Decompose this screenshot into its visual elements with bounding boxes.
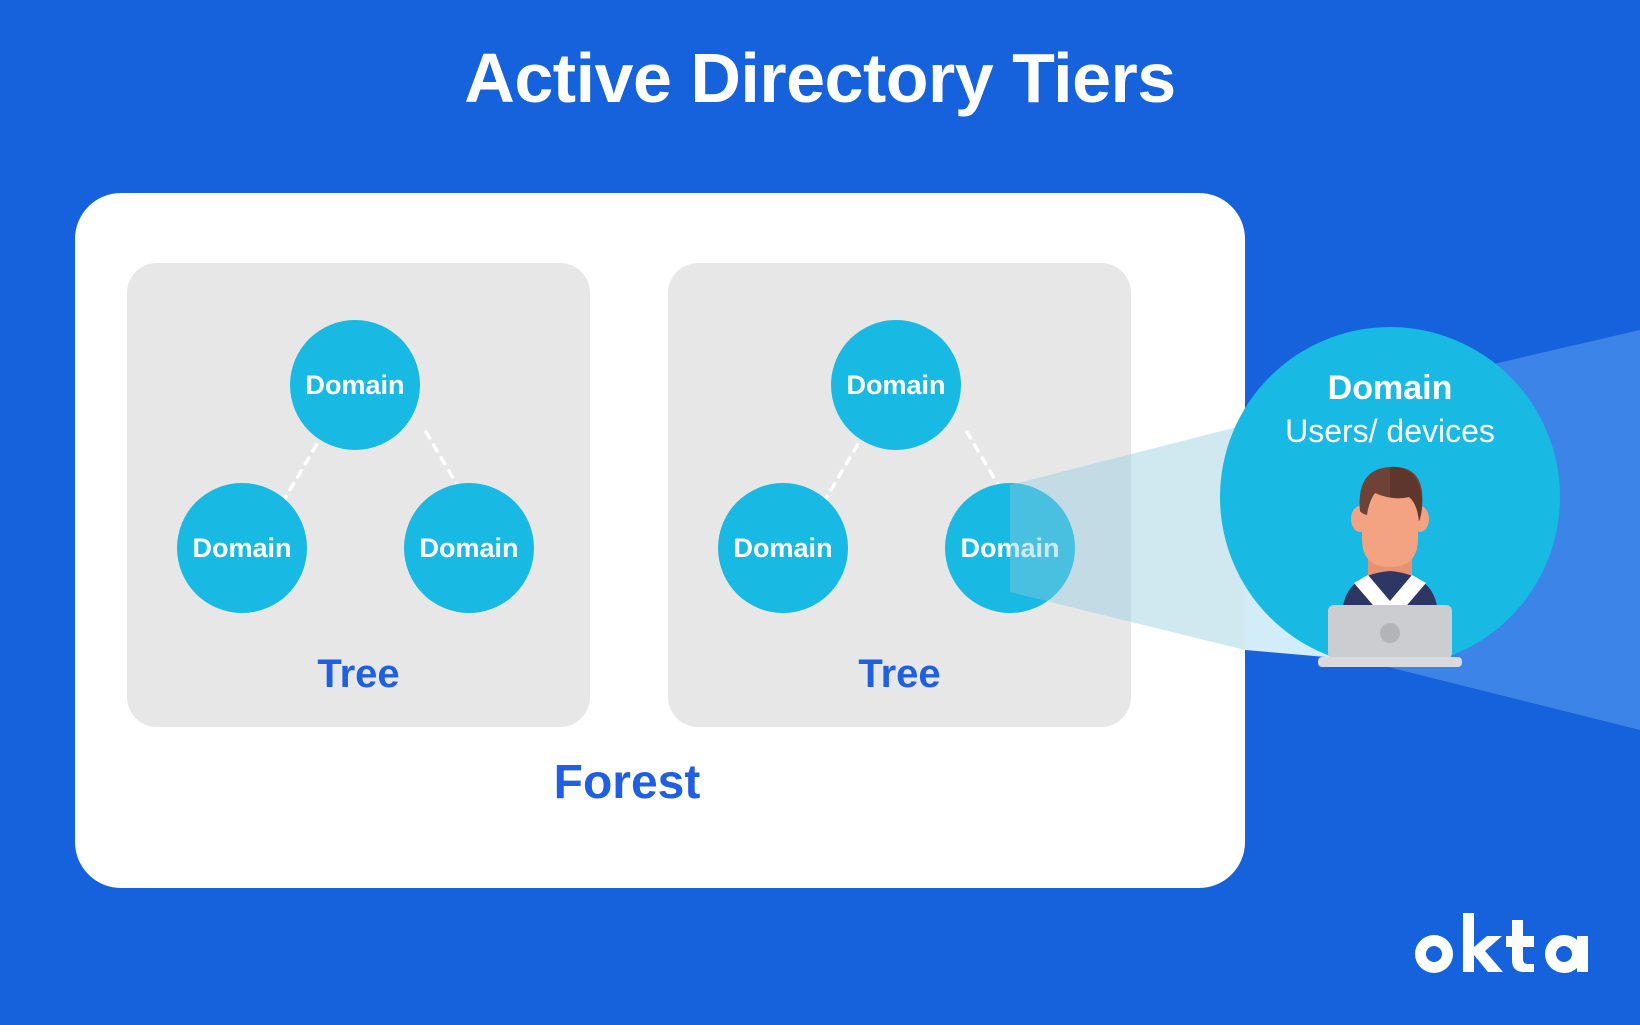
- callout-title: Domain: [1220, 369, 1560, 408]
- domain-node-t1-top[interactable]: Domain: [290, 320, 420, 450]
- tree-card-1: Domain Domain Domain Tree: [127, 263, 590, 727]
- person-at-laptop-icon: [1290, 457, 1490, 667]
- domain-node-label: Domain: [733, 533, 832, 564]
- infographic-canvas: Active Directory Tiers Domain Domain Dom…: [0, 0, 1640, 1025]
- domain-node-label: Domain: [419, 533, 518, 564]
- domain-callout[interactable]: Domain Users/ devices: [1220, 327, 1560, 667]
- domain-node-t2-top[interactable]: Domain: [831, 320, 961, 450]
- domain-node-label: Domain: [192, 533, 291, 564]
- callout-subtitle: Users/ devices: [1220, 413, 1560, 450]
- domain-node-label: Domain: [305, 370, 404, 401]
- forest-label: Forest: [127, 755, 1127, 810]
- tree-1-label: Tree: [127, 652, 590, 697]
- domain-node-t1-right[interactable]: Domain: [404, 483, 534, 613]
- tree-card-2: Domain Domain Domain Tree: [668, 263, 1131, 727]
- domain-node-label: Domain: [960, 533, 1059, 564]
- domain-node-t1-left[interactable]: Domain: [177, 483, 307, 613]
- tree-2-label: Tree: [668, 652, 1131, 697]
- okta-logo: [1408, 911, 1592, 983]
- domain-node-t2-right[interactable]: Domain: [945, 483, 1075, 613]
- domain-node-label: Domain: [846, 370, 945, 401]
- page-title: Active Directory Tiers: [0, 40, 1640, 117]
- domain-node-t2-left[interactable]: Domain: [718, 483, 848, 613]
